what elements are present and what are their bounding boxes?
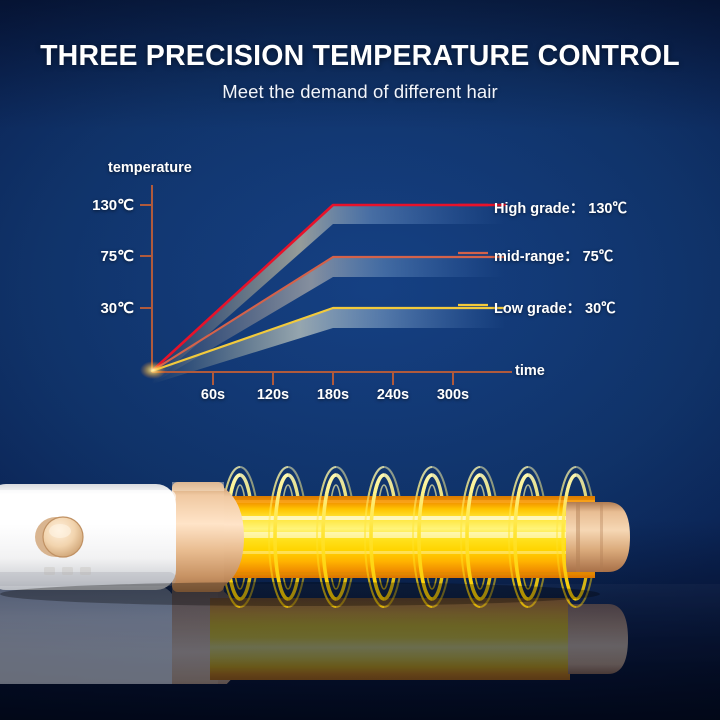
product-shadow [0, 582, 600, 606]
x-tick-label-60s: 60s [183, 387, 243, 403]
origin-glow [140, 361, 166, 379]
gold-collar [172, 482, 244, 592]
page-subtitle: Meet the demand of different hair [0, 81, 720, 103]
x-tick-label-120s: 120s [243, 387, 303, 403]
y-axis-title: temperature [108, 160, 192, 176]
y-tick-label-130: 130℃ [48, 196, 134, 214]
header: THREE PRECISION TEMPERATURE CONTROL Meet… [0, 0, 720, 103]
x-tick-label-180s: 180s [303, 387, 363, 403]
y-tick-label-30: 30℃ [48, 299, 134, 317]
curve-glow-layer [152, 205, 505, 384]
barrel-tip-cap [566, 502, 630, 572]
x-tick-label-240s: 240s [363, 387, 423, 403]
legend-label-low-grade: Low grade： 30℃ [494, 297, 616, 318]
heated-barrel [205, 496, 595, 578]
handle-markings [44, 567, 91, 575]
page-title: THREE PRECISION TEMPERATURE CONTROL [0, 40, 720, 73]
legend-label-mid-range: mid-range： 75℃ [494, 245, 613, 266]
product-svg [0, 432, 720, 720]
x-axis-title: time [515, 363, 545, 379]
legend-label-high-grade: High grade： 130℃ [494, 197, 627, 218]
product-image [0, 432, 720, 720]
power-button[interactable] [35, 517, 83, 557]
y-tick-label-75: 75℃ [48, 247, 134, 265]
x-tick-label-300s: 300s [423, 387, 483, 403]
